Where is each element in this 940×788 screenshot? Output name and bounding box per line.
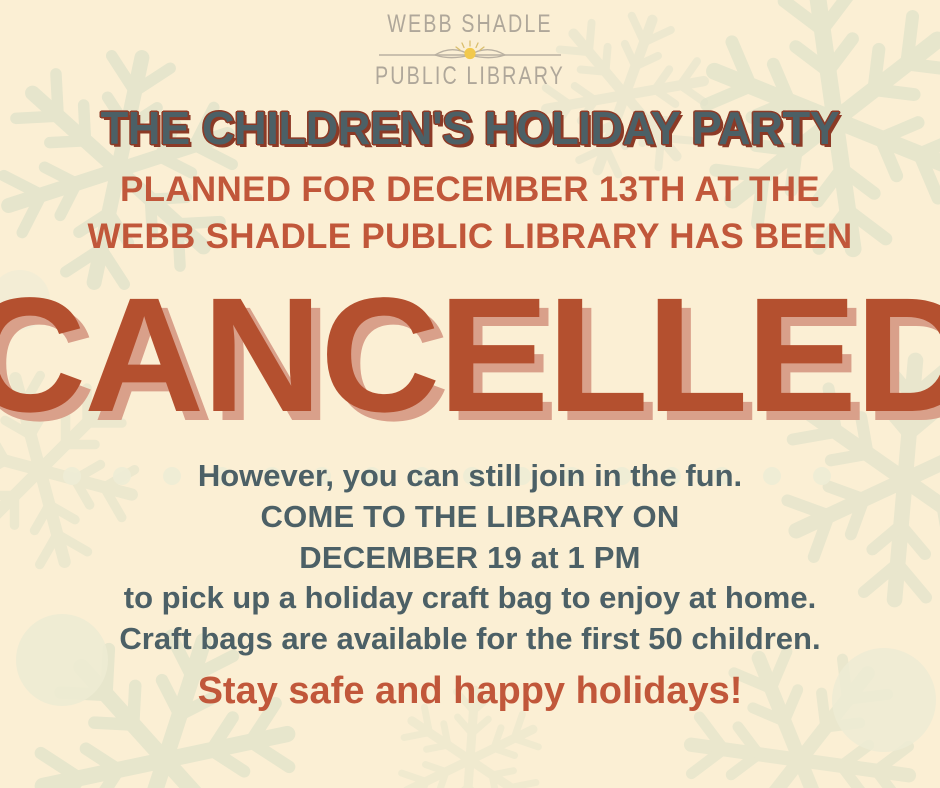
logo-line-public-library: PUBLIC LIBRARY bbox=[375, 64, 565, 90]
body-line-5: Craft bags are available for the first 5… bbox=[0, 619, 940, 660]
body-line-3: DECEMBER 19 at 1 PM bbox=[0, 538, 940, 579]
closing-message: Stay safe and happy holidays! bbox=[0, 669, 940, 715]
body-line-4: to pick up a holiday craft bag to enjoy … bbox=[0, 578, 940, 619]
body-line-1: However, you can still join in the fun. bbox=[0, 456, 940, 497]
cancelled-word: CANCELLED bbox=[0, 288, 940, 422]
poster-subheadline: PLANNED FOR DECEMBER 13TH AT THE WEBB SH… bbox=[0, 167, 940, 259]
logo-line-webb-shadle: WEBB SHADLE bbox=[387, 12, 552, 38]
poster-content: WEBB SHADLE PUBLIC LIBRARY bbox=[0, 0, 940, 788]
poster-body-copy: However, you can still join in the fun. … bbox=[0, 456, 940, 715]
poster-canvas: WEBB SHADLE PUBLIC LIBRARY bbox=[0, 0, 940, 788]
subheadline-line-2: WEBB SHADLE PUBLIC LIBRARY HAS BEEN bbox=[0, 214, 940, 260]
library-logo: WEBB SHADLE PUBLIC LIBRARY bbox=[0, 0, 940, 88]
subheadline-line-1: PLANNED FOR DECEMBER 13TH AT THE bbox=[0, 167, 940, 213]
logo-book-sun-ornament-icon bbox=[379, 38, 561, 64]
body-line-2: COME TO THE LIBRARY ON bbox=[0, 497, 940, 538]
poster-headline: THE CHILDREN'S HOLIDAY PARTY bbox=[7, 104, 933, 152]
cancelled-banner: CANCELLED bbox=[0, 280, 940, 430]
